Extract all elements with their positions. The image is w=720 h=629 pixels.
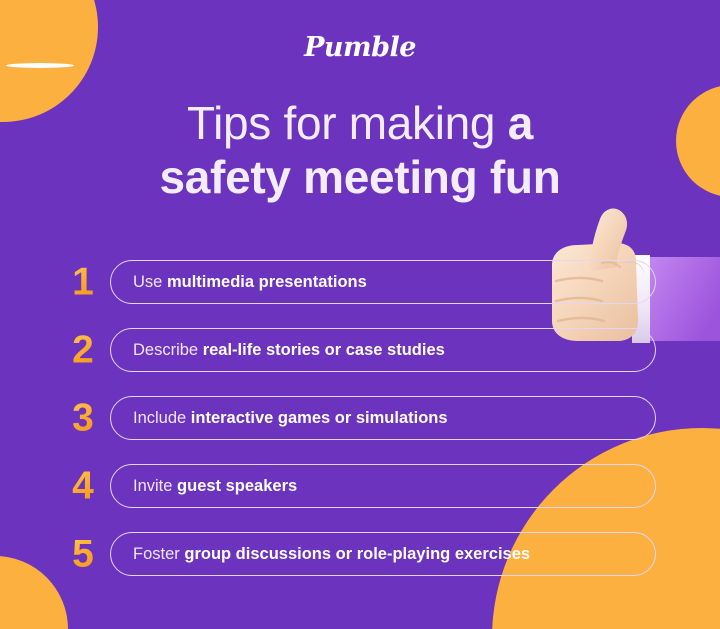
tips-list: 1 Use multimedia presentations 2 Describ…	[0, 248, 720, 588]
list-item-text: Use multimedia presentations	[133, 274, 367, 291]
page-title-line1-light: Tips for making	[187, 97, 508, 149]
list-item: 2 Describe real-life stories or case stu…	[0, 316, 720, 384]
list-item: 3 Include interactive games or simulatio…	[0, 384, 720, 452]
list-item-text-emphasis: guest speakers	[177, 477, 297, 495]
list-item-text-lead: Describe	[133, 341, 203, 359]
list-item-text-emphasis: group discussions or role-playing exerci…	[184, 545, 530, 563]
list-item-pill: Describe real-life stories or case studi…	[110, 328, 656, 372]
list-item-text: Describe real-life stories or case studi…	[133, 342, 445, 359]
list-item-pill: Foster group discussions or role-playing…	[110, 532, 656, 576]
list-item: 4 Invite guest speakers	[0, 452, 720, 520]
list-item-pill: Use multimedia presentations	[110, 260, 656, 304]
list-item: 1 Use multimedia presentations	[0, 248, 720, 316]
page-title-line1-bold: a	[508, 97, 533, 149]
list-item-number: 2	[66, 331, 100, 370]
list-item-pill: Invite guest speakers	[110, 464, 656, 508]
list-item-number: 1	[66, 263, 100, 302]
list-item-text-lead: Invite	[133, 477, 177, 495]
list-item-number: 3	[66, 399, 100, 438]
list-item-text: Include interactive games or simulations	[133, 410, 448, 427]
list-item-number: 4	[66, 467, 100, 506]
list-item-text: Invite guest speakers	[133, 478, 297, 495]
brand-logo-wordmark: Pumble	[304, 34, 416, 61]
list-item-text-emphasis: interactive games or simulations	[191, 409, 448, 427]
list-item-text-emphasis: real-life stories or case studies	[203, 341, 445, 359]
page-title: Tips for making a safety meeting fun	[60, 96, 660, 205]
list-item-text-lead: Include	[133, 409, 191, 427]
list-item-text: Foster group discussions or role-playing…	[133, 546, 530, 563]
list-item-pill: Include interactive games or simulations	[110, 396, 656, 440]
decorative-circle-top-right	[676, 85, 720, 197]
list-item: 5 Foster group discussions or role-playi…	[0, 520, 720, 588]
infographic-canvas: Pumble Tips for making a safety meeting …	[0, 0, 720, 629]
list-item-text-lead: Use	[133, 273, 167, 291]
page-title-line2-bold: safety meeting fun	[159, 151, 560, 203]
brand-logo: Pumble	[0, 34, 720, 61]
list-item-number: 5	[66, 535, 100, 574]
list-item-text-emphasis: multimedia presentations	[167, 273, 367, 291]
list-item-text-lead: Foster	[133, 545, 184, 563]
